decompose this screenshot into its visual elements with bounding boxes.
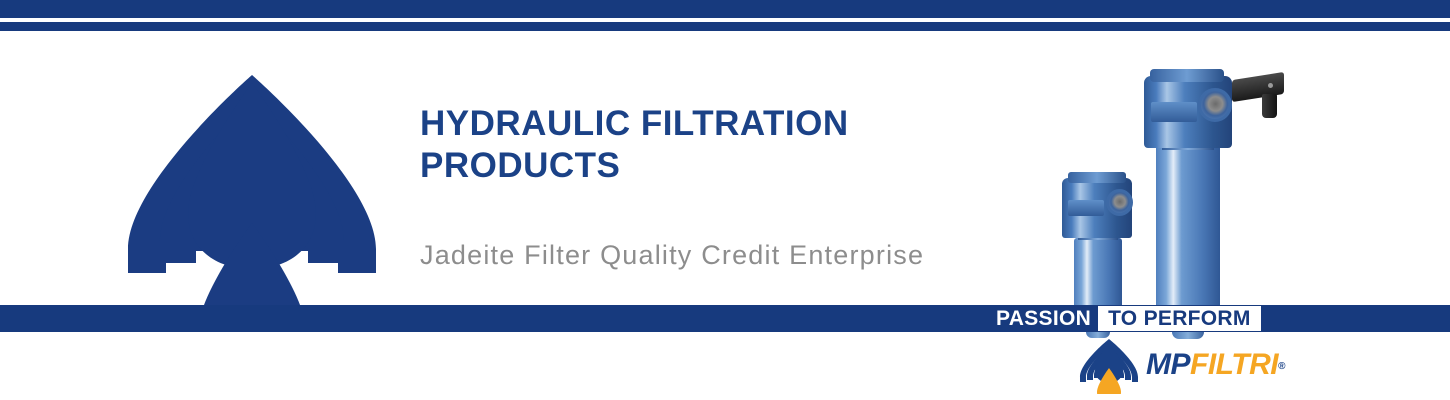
connector-stem [1262, 94, 1277, 118]
headline-line-1: HYDRAULIC FILTRATION [420, 103, 1040, 145]
filter-small-inlet-port [1106, 189, 1133, 216]
top-accent-bar-primary [0, 0, 1450, 18]
slogan-highlight: PASSION [988, 306, 1098, 331]
brand-name-mp: MP [1146, 350, 1190, 380]
connector-screw-icon [1268, 83, 1273, 88]
banner-tagline: Jadeite Filter Quality Credit Enterprise [420, 240, 924, 271]
filter-large-housing [1156, 144, 1220, 332]
filter-unit-large [1142, 66, 1234, 338]
filter-large-nameplate [1151, 102, 1197, 122]
hydraulic-filter-units [1060, 62, 1300, 336]
electrical-connector [1232, 70, 1290, 120]
brand-slogan: PASSION TO PERFORM [988, 306, 1261, 331]
filter-small-head-cap [1068, 172, 1126, 183]
brand-trademark: ® [1278, 352, 1285, 382]
filter-large-inlet-port [1198, 88, 1232, 122]
banner-headline: HYDRAULIC FILTRATION PRODUCTS [420, 103, 1040, 187]
banner-main-band: HYDRAULIC FILTRATION PRODUCTS Jadeite Fi… [0, 31, 1450, 305]
filter-large-head-cap [1150, 69, 1224, 82]
top-accent-bar-secondary [0, 22, 1450, 31]
brand-name-filtri: FILTRI [1190, 350, 1278, 380]
mp-filtri-droplet-ripples-icon [1078, 338, 1140, 394]
slogan-rest: TO PERFORM [1098, 306, 1261, 331]
mp-filtri-brand-logo: MP FILTRI ® [1078, 338, 1285, 394]
mp-filtri-wordmark: MP FILTRI ® [1146, 350, 1285, 382]
headline-line-2: PRODUCTS [420, 145, 1040, 187]
water-droplet-ripples-logo [122, 73, 382, 328]
filter-small-nameplate [1068, 200, 1104, 216]
